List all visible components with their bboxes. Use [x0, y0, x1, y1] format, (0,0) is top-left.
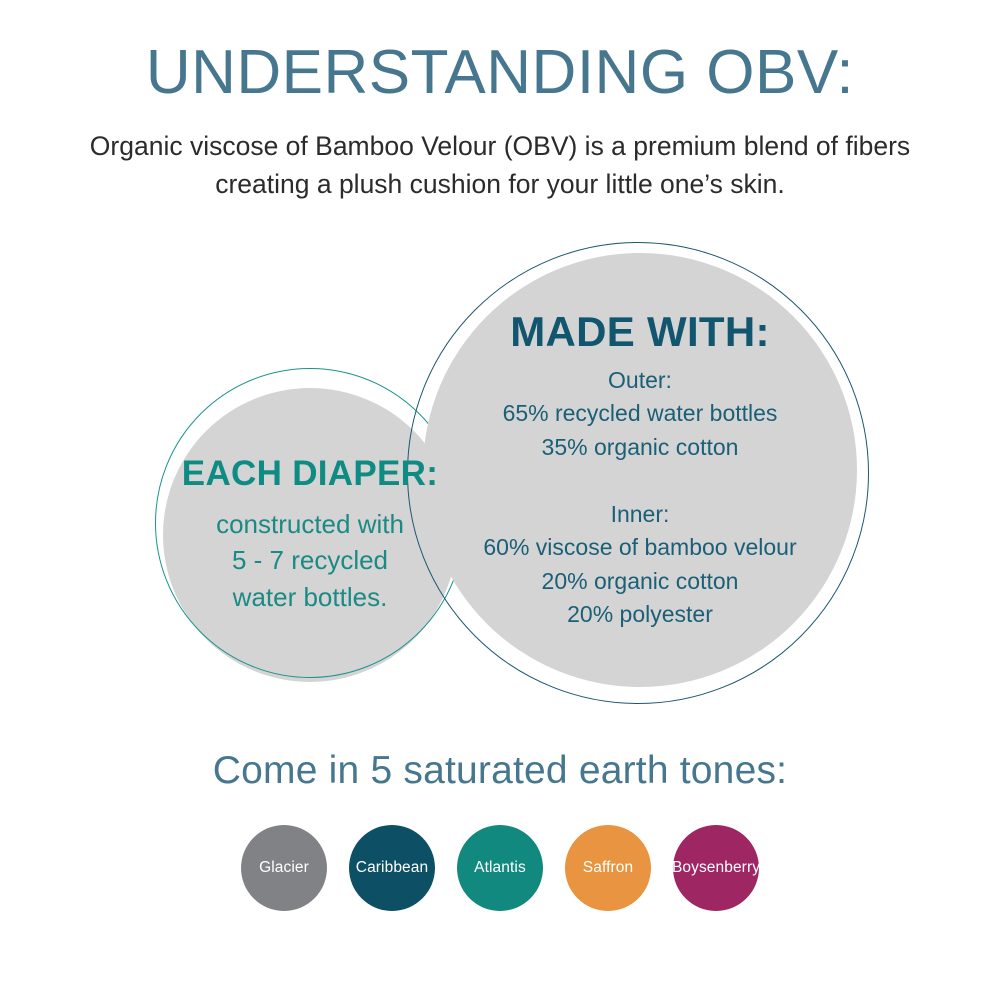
color-swatch-row: Glacier Caribbean Atlantis Saffron Boyse… [0, 825, 1000, 911]
color-swatch-label: Caribbean [356, 860, 428, 876]
composition-spacer [415, 464, 865, 498]
color-swatch-glacier[interactable]: Glacier [241, 825, 327, 911]
outer-composition-line: 65% recycled water bottles [415, 397, 865, 430]
made-with-heading: MADE WITH: [415, 310, 865, 354]
color-swatch-caribbean[interactable]: Caribbean [349, 825, 435, 911]
header: UNDERSTANDING OBV: Organic viscose of Ba… [0, 0, 1000, 203]
inner-label: Inner: [415, 498, 865, 531]
color-swatch-label: Glacier [259, 860, 309, 876]
color-swatch-atlantis[interactable]: Atlantis [457, 825, 543, 911]
inner-composition-line: 60% viscose of bamboo velour [415, 531, 865, 564]
inner-composition-line: 20% polyester [415, 598, 865, 631]
color-swatch-label: Saffron [583, 860, 633, 876]
color-swatch-saffron[interactable]: Saffron [565, 825, 651, 911]
outer-composition-line: 35% organic cotton [415, 431, 865, 464]
outer-label: Outer: [415, 364, 865, 397]
color-swatch-label: Atlantis [474, 860, 526, 876]
venn-diagram: EACH DIAPER: constructed with 5 - 7 recy… [0, 230, 1000, 710]
subtitle: Organic viscose of Bamboo Velour (OBV) i… [0, 104, 1000, 203]
page-title: UNDERSTANDING OBV: [0, 0, 1000, 104]
inner-composition-line: 20% organic cotton [415, 565, 865, 598]
color-swatch-label: Boysenberry [672, 860, 760, 876]
color-tones-section: Come in 5 saturated earth tones: Glacier… [0, 748, 1000, 911]
subtitle-line: creating a plush cushion for your little… [0, 166, 1000, 204]
venn-right-circle-content: MADE WITH: Outer: 65% recycled water bot… [415, 310, 865, 632]
color-tones-heading: Come in 5 saturated earth tones: [0, 748, 1000, 795]
subtitle-line: Organic viscose of Bamboo Velour (OBV) i… [0, 128, 1000, 166]
color-swatch-boysenberry[interactable]: Boysenberry [673, 825, 759, 911]
